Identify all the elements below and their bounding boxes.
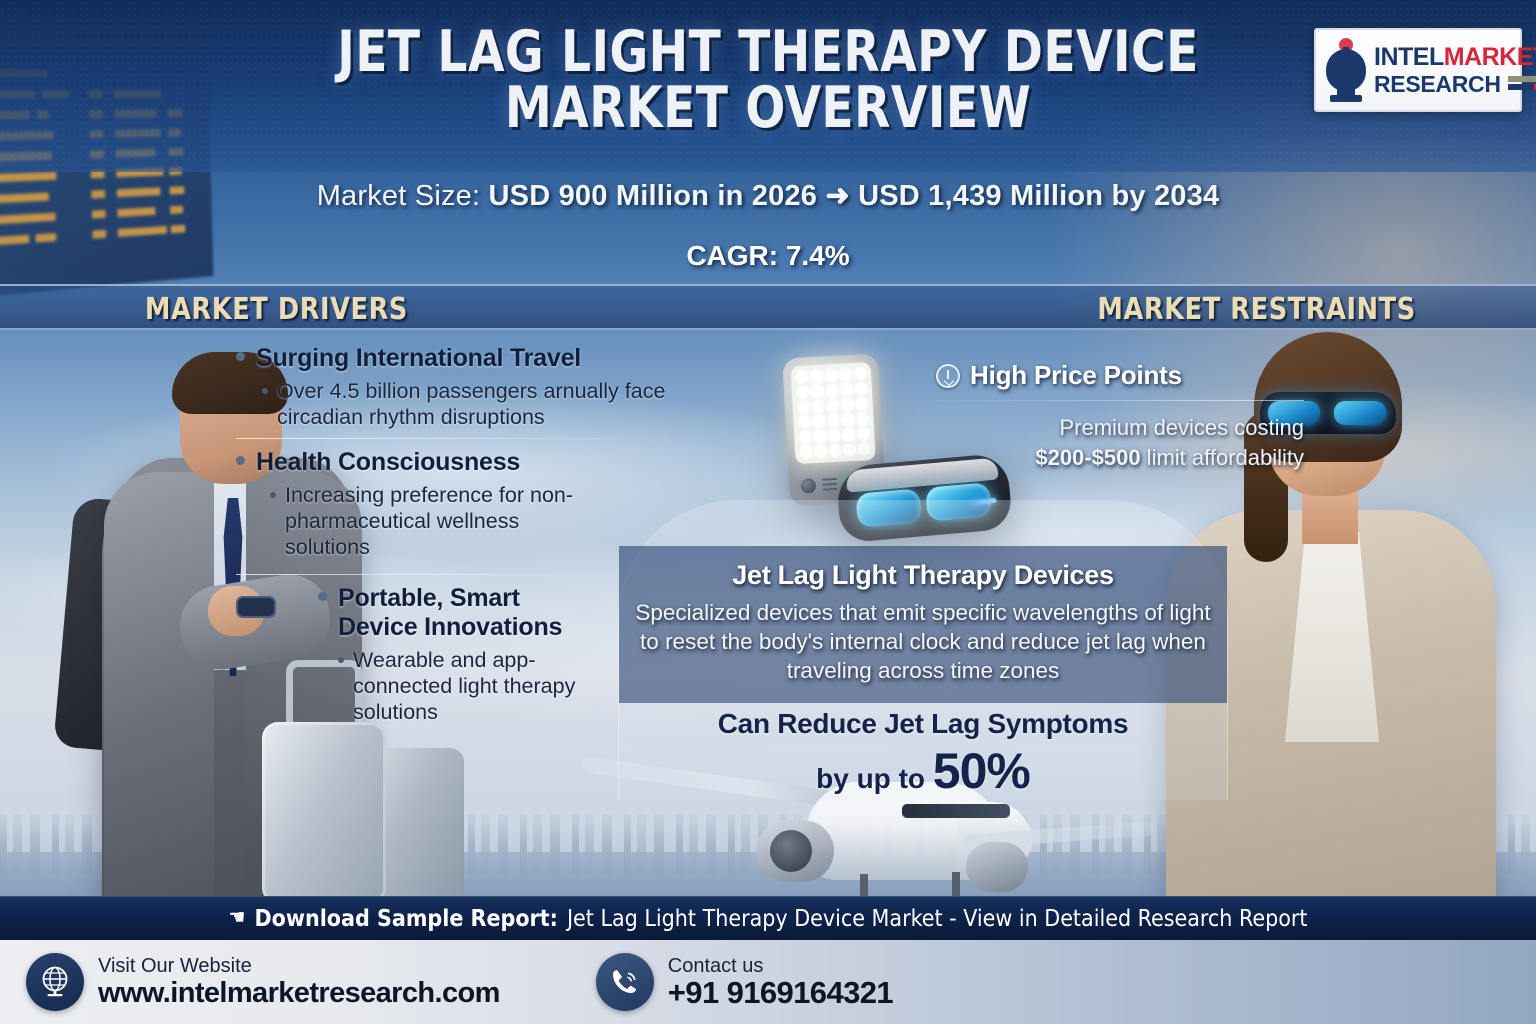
jacket-left	[104, 472, 214, 902]
sub-bullet-icon	[262, 388, 268, 394]
section-title-restraints: MARKET RESTRAINTS	[1097, 292, 1415, 327]
driver-detail-text: Increasing preference for non-pharmaceut…	[285, 482, 588, 560]
reduction-stat-line1: Can Reduce Jet Lag Symptoms	[619, 708, 1227, 740]
market-size-from: USD 900 Million in 2026	[489, 180, 818, 212]
download-sample-report-bar[interactable]: ☚ Download Sample Report: Jet Lag Light …	[0, 896, 1536, 940]
reduction-stat-prefix: by up to	[816, 763, 933, 794]
definition-box: Jet Lag Light Therapy Devices Specialize…	[619, 546, 1227, 703]
website-block[interactable]: Visit Our Website www.intelmarketresearc…	[26, 953, 500, 1011]
section-title-drivers: MARKET DRIVERS	[145, 292, 408, 327]
globe-icon	[26, 953, 84, 1011]
market-drivers-list: Surging International Travel Over 4.5 bi…	[236, 344, 666, 731]
driver-detail: Increasing preference for non-pharmaceut…	[236, 482, 588, 560]
divider	[936, 400, 1304, 401]
restraint-detail: Premium devices costing $200-$500 limit …	[936, 413, 1304, 473]
price-down-circle-icon	[936, 364, 960, 388]
suitcase-front	[262, 722, 386, 904]
market-size-label: Market Size:	[317, 180, 481, 212]
logo-line-1: INTELMARKET®	[1374, 45, 1536, 70]
sub-bullet-icon	[338, 657, 344, 663]
footer-bar: Visit Our Website www.intelmarketresearc…	[0, 940, 1536, 1024]
download-link-text[interactable]: Jet Lag Light Therapy Device Market - Vi…	[567, 906, 1308, 932]
divider	[236, 574, 666, 575]
title-line-2: MARKET OVERVIEW	[61, 80, 1474, 136]
driver-heading: Surging International Travel	[236, 344, 666, 373]
infographic-canvas: JET LAG LIGHT THERAPY DEVICE MARKET OVER…	[0, 0, 1536, 1024]
contact-label: Contact us	[668, 955, 764, 977]
title-line-1: JET LAG LIGHT THERAPY DEVICE	[61, 24, 1474, 80]
driver-detail: Over 4.5 billion passengers arnually fac…	[236, 378, 666, 430]
logo-word-research: RESEARCH	[1374, 73, 1501, 96]
bullet-icon	[236, 456, 245, 465]
definition-description: Specialized devices that emit specific w…	[633, 598, 1213, 685]
driver-heading: Health Consciousness	[236, 448, 666, 477]
driver-item-1: Surging International Travel Over 4.5 bi…	[236, 344, 666, 430]
website-label: Visit Our Website	[98, 955, 252, 977]
driver-heading: Portable, Smart Device Innovations	[318, 584, 588, 642]
logo-line-2: RESEARCH	[1374, 73, 1536, 96]
restraint-detail-post: limit affordability	[1141, 445, 1304, 470]
phone-icon	[596, 953, 654, 1011]
website-url[interactable]: www.intelmarketresearch.com	[98, 977, 500, 1009]
arrow-icon: ➜	[825, 180, 850, 212]
driver-item-2: Health Consciousness Increasing preferen…	[236, 448, 666, 560]
website-text: Visit Our Website www.intelmarketresearc…	[98, 955, 500, 1009]
logo-word-intel: INTEL	[1374, 43, 1444, 71]
reduction-stat-line2: by up to 50%	[619, 742, 1227, 800]
contact-block[interactable]: Contact us +91 9169164321	[596, 953, 893, 1011]
market-size-line: Market Size: USD 900 Million in 2026 ➜ U…	[0, 178, 1536, 213]
section-header-bar: MARKET DRIVERS MARKET RESTRAINTS	[0, 284, 1536, 330]
driver-heading-text: Portable, Smart Device Innovations	[338, 584, 588, 642]
sub-bullet-icon	[270, 492, 276, 498]
cagr-value: CAGR: 7.4%	[0, 240, 1536, 272]
brand-logo[interactable]: INTELMARKET® RESEARCH	[1314, 28, 1522, 112]
driver-heading-text: Surging International Travel	[256, 344, 581, 373]
bullet-icon	[236, 352, 245, 361]
reduction-stat: Can Reduce Jet Lag Symptoms by up to 50%	[619, 708, 1227, 800]
logo-color-bars	[1508, 76, 1536, 92]
market-size-to: USD 1,439 Million by 2034	[858, 180, 1219, 212]
hand-click-icon: ☚	[229, 907, 246, 928]
driver-item-3: Portable, Smart Device Innovations Weara…	[236, 584, 666, 725]
control-bars	[823, 478, 838, 491]
lightbulb-icon	[1324, 37, 1368, 103]
restraint-heading: High Price Points	[936, 360, 1304, 391]
page-title: JET LAG LIGHT THERAPY DEVICE MARKET OVER…	[61, 24, 1474, 136]
contact-text: Contact us +91 9169164321	[668, 955, 893, 1009]
driver-detail: Wearable and app-connected light therapy…	[318, 647, 608, 725]
restraint-detail-pre: Premium devices costing	[1059, 415, 1304, 440]
led-panel	[791, 362, 876, 464]
driver-detail-text: Over 4.5 billion passengers arnually fac…	[277, 378, 666, 430]
power-button	[801, 478, 817, 494]
reduction-stat-value: 50%	[933, 743, 1030, 799]
bullet-icon	[318, 592, 327, 601]
definition-title: Jet Lag Light Therapy Devices	[633, 560, 1213, 591]
restraint-item-1: High Price Points Premium devices costin…	[936, 360, 1304, 473]
market-restraints-list: High Price Points Premium devices costin…	[936, 360, 1304, 479]
driver-detail-text: Wearable and app-connected light therapy…	[353, 647, 608, 725]
download-label: Download Sample Report:	[254, 906, 557, 932]
driver-heading-text: Health Consciousness	[256, 448, 520, 477]
logo-word-market: MARKET	[1444, 43, 1536, 71]
restraint-heading-text: High Price Points	[970, 360, 1182, 391]
divider	[236, 438, 666, 439]
center-definition-panel: Jet Lag Light Therapy Devices Specialize…	[618, 500, 1228, 800]
restraint-detail-price: $200-$500	[1035, 445, 1140, 470]
contact-phone-number[interactable]: +91 9169164321	[668, 977, 893, 1009]
